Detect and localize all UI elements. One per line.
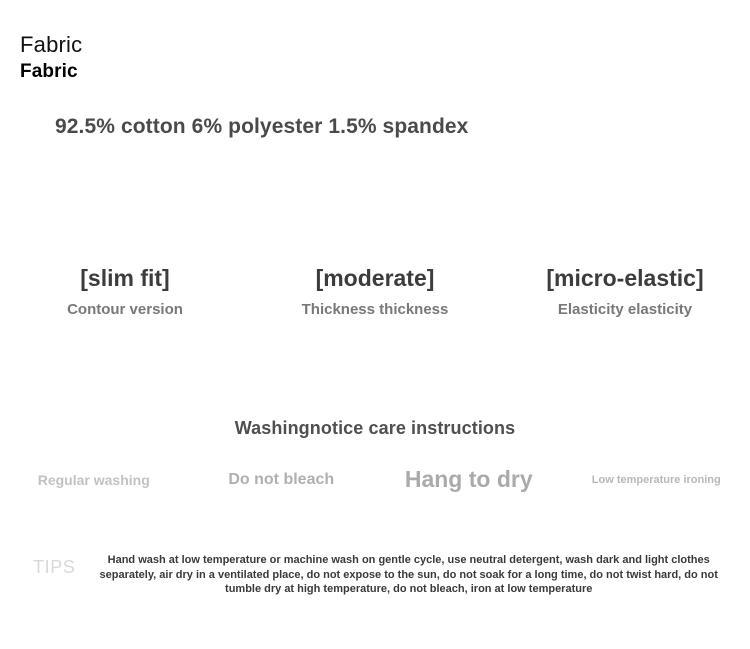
page-header: Fabric Fabric (20, 30, 82, 85)
page-title-light: Fabric (20, 30, 82, 59)
fabric-attributes-row: [slim fit] Contour version [moderate] Th… (0, 262, 750, 320)
washing-care-heading: Washingnotice care instructions (0, 418, 750, 439)
care-item-low-temperature-ironing: Low temperature ironing (563, 474, 750, 486)
attribute-elasticity-value: [micro-elastic] (546, 262, 703, 294)
fabric-composition: 92.5% cotton 6% polyester 1.5% spandex (55, 115, 468, 139)
tips-block: TIPS Hand wash at low temperature or mac… (20, 553, 730, 597)
care-instructions-row: Regular washing Do not bleach Hang to dr… (0, 466, 750, 493)
fabric-detail-page: Fabric Fabric 92.5% cotton 6% polyester … (0, 0, 750, 649)
care-item-hang-to-dry: Hang to dry (375, 466, 563, 493)
attribute-thickness-label: Thickness thickness (302, 300, 449, 320)
tips-label: TIPS (20, 553, 75, 579)
attribute-elasticity: [micro-elastic] Elasticity elasticity (500, 262, 750, 320)
attribute-elasticity-label: Elasticity elasticity (558, 300, 692, 320)
care-item-regular-washing: Regular washing (0, 472, 188, 488)
page-title-bold: Fabric (20, 59, 82, 85)
attribute-fit-label: Contour version (67, 300, 183, 320)
tips-text: Hand wash at low temperature or machine … (87, 553, 730, 597)
attribute-fit: [slim fit] Contour version (0, 262, 250, 320)
care-item-do-not-bleach: Do not bleach (188, 471, 376, 489)
attribute-thickness: [moderate] Thickness thickness (250, 262, 500, 320)
attribute-fit-value: [slim fit] (80, 262, 169, 294)
attribute-thickness-value: [moderate] (316, 262, 435, 294)
